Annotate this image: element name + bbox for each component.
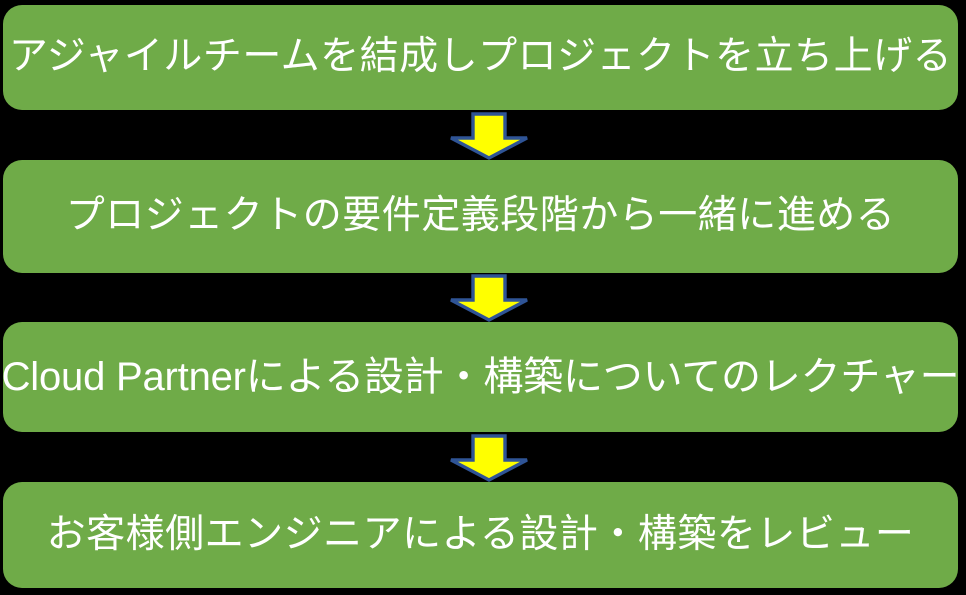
process-flow-diagram: アジャイルチームを結成しプロジェクトを立ち上げる プロジェクトの要件定義段階から… <box>0 0 966 595</box>
process-step-box-3: Cloud Partnerによる設計・構築についてのレクチャー <box>3 322 958 432</box>
arrow-down-icon-2 <box>447 274 531 322</box>
arrow-down-icon-3 <box>447 434 531 482</box>
process-step-label-3: Cloud Partnerによる設計・構築についてのレクチャー <box>3 354 958 400</box>
arrow-down-icon-1 <box>447 112 531 160</box>
process-step-label-4: お客様側エンジニアによる設計・構築をレビュー <box>47 513 915 558</box>
process-step-box-2: プロジェクトの要件定義段階から一緒に進める <box>3 160 958 273</box>
process-step-box-1: アジャイルチームを結成しプロジェクトを立ち上げる <box>3 5 958 110</box>
process-step-label-1: アジャイルチームを結成しプロジェクトを立ち上げる <box>9 35 952 80</box>
process-step-label-2: プロジェクトの要件定義段階から一緒に進める <box>66 194 896 239</box>
process-step-box-4: お客様側エンジニアによる設計・構築をレビュー <box>3 482 958 588</box>
